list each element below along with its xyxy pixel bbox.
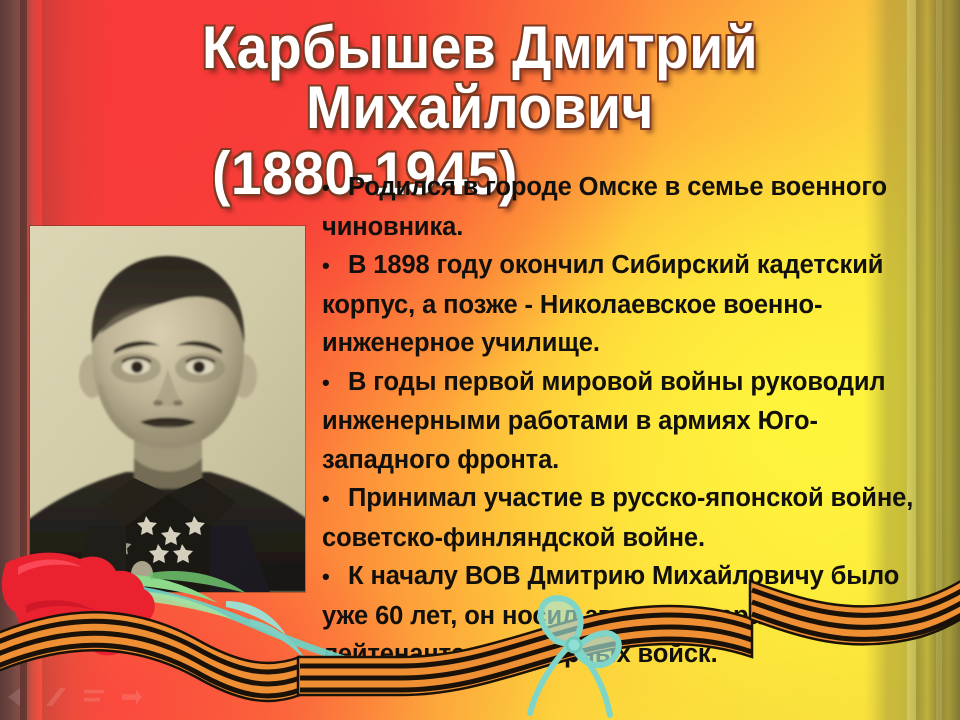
list-item-text: Принимал участие в русско-японской войне… <box>322 484 913 552</box>
watermark-slash-icon <box>46 688 66 706</box>
list-item-text: Родился в городе Омске в семье военного … <box>322 173 887 241</box>
list-item: •К началу ВОВ Дмитрию Михайловичу было у… <box>322 557 930 674</box>
watermark-triangle-left-icon <box>8 688 28 706</box>
list-item: •В годы первой мировой войны руководил и… <box>322 363 930 480</box>
watermark-glyphs <box>8 688 142 706</box>
presentation-slide: Карбышев Дмитрий Михайлович (1880-1945) <box>0 0 960 720</box>
list-item-text: К началу ВОВ Дмитрию Михайловичу было уж… <box>322 562 899 668</box>
list-item-text: В 1898 году окончил Сибирский кадетский … <box>322 251 883 357</box>
list-item: •Родился в городе Омске в семье военного… <box>322 168 930 246</box>
watermark-arrow-right-icon <box>122 688 142 706</box>
list-item-text: В годы первой мировой войны руководил ин… <box>322 368 886 474</box>
bullet-marker-icon: • <box>322 169 348 208</box>
watermark-lines-icon <box>84 688 104 706</box>
left-dark-stripe <box>20 0 27 720</box>
portrait-photo <box>30 226 305 592</box>
biography-bullet-list: •Родился в городе Омске в семье военного… <box>322 168 930 674</box>
right-light-stripe-inner <box>936 0 942 720</box>
bullet-marker-icon: • <box>322 247 348 286</box>
list-item: •Принимал участие в русско-японской войн… <box>322 479 930 557</box>
bullet-marker-icon: • <box>322 364 348 403</box>
bullet-marker-icon: • <box>322 558 348 597</box>
bullet-marker-icon: • <box>322 480 348 519</box>
list-item: •В 1898 году окончил Сибирский кадетский… <box>322 246 930 363</box>
